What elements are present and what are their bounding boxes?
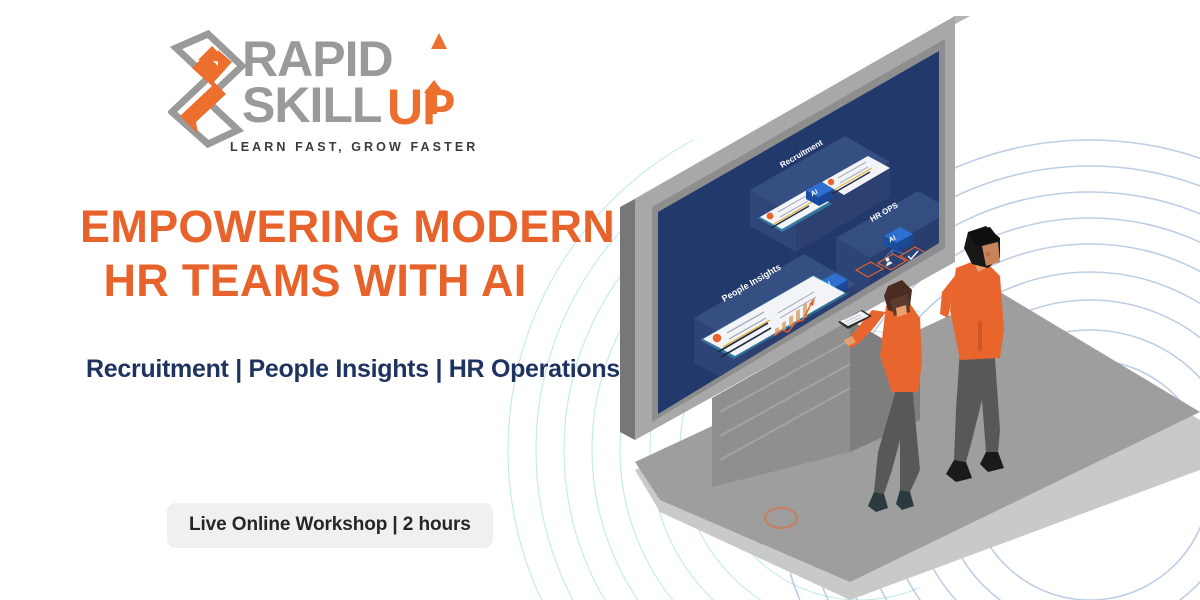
- logo-tagline: LEARN FAST, GROW FASTER: [230, 140, 478, 154]
- page-title: EMPOWERING MODERN HR TEAMS WITH AI: [80, 200, 620, 308]
- zigzag-arrow-up-icon: [168, 30, 246, 148]
- logo-line-skill: SKILL: [242, 80, 381, 130]
- up-arrow-icon: [423, 80, 445, 114]
- subtitle-topics: Recruitment | People Insights | HR Opera…: [86, 355, 620, 384]
- logo-dot-arrow-icon: [430, 32, 448, 50]
- brand-logo: RAPID SKILL UP LEARN FAST, GROW FASTER: [168, 28, 478, 163]
- hr-ai-illustration: Recruitment: [600, 0, 1200, 600]
- headline-line-1: EMPOWERING MODERN: [80, 200, 620, 254]
- event-banner: Recruitment: [0, 0, 1200, 600]
- status-badge: Live Online Workshop | 2 hours: [167, 503, 493, 548]
- banner-left-content: RAPID SKILL UP LEARN FAST, GROW FASTER E…: [0, 0, 640, 600]
- headline-line-2: HR TEAMS WITH AI: [80, 254, 550, 308]
